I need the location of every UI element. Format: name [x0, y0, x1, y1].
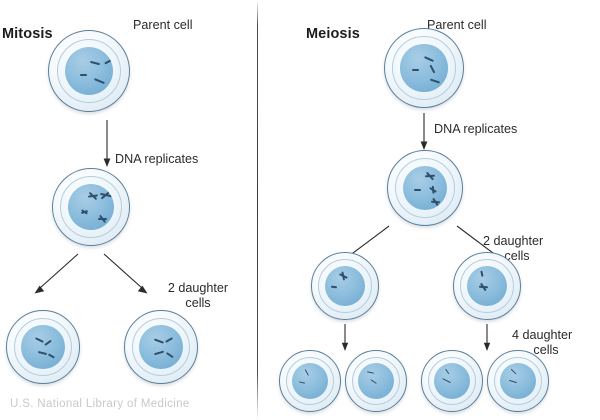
meiosis-arrow-replicate — [418, 113, 434, 151]
chromosome — [167, 352, 174, 358]
chromosome — [370, 379, 376, 384]
cell-nucleus — [467, 266, 507, 306]
mitosis-title: Mitosis — [2, 26, 53, 42]
chromosome — [430, 78, 440, 83]
mitosis-arrow-branch-left — [28, 252, 84, 298]
chromosome — [442, 378, 450, 383]
chromosome-duplicated — [340, 272, 347, 280]
meiosis-daughter4-cell-2 — [345, 350, 407, 412]
mitosis-arrow-branch-right — [100, 252, 156, 298]
meiosis-daughter4-cell-3 — [421, 350, 483, 412]
chromatid — [431, 200, 440, 203]
mitosis-parent-cell — [48, 30, 130, 112]
meiosis-arrow-down-left — [339, 324, 353, 352]
cell-nucleus — [139, 325, 183, 369]
meiosis-daughter4-label-line1: 4 daughter — [512, 328, 572, 343]
cell-nucleus — [68, 184, 114, 230]
chromosome — [104, 57, 113, 64]
chromosome — [90, 61, 100, 65]
chromosome-duplicated — [425, 174, 435, 179]
cell-nucleus — [400, 44, 447, 91]
chromatid — [479, 286, 488, 288]
mitosis-dna-replicates-label: DNA replicates — [115, 152, 198, 167]
cell-nucleus — [21, 325, 65, 369]
chromosome — [481, 271, 484, 277]
chromosome-duplicated — [431, 198, 440, 204]
chromosome — [45, 339, 52, 345]
mitosis-daughter-cell-right — [124, 310, 198, 384]
chromosome — [154, 351, 164, 355]
chromosome — [165, 337, 173, 343]
chromosome — [48, 354, 55, 359]
chromosome-duplicated — [98, 217, 107, 223]
mitosis-daughter-label-line2: cells — [155, 296, 241, 311]
source-credit: U.S. National Library of Medicine — [10, 398, 190, 410]
chromosome-duplicated — [88, 194, 98, 199]
chromosome — [298, 381, 304, 384]
mitosis-panel: Mitosis Parent cell DNA replicates 2 dau… — [0, 0, 257, 420]
meiosis-dna-replicates-label: DNA replicates — [434, 122, 517, 137]
mitosis-parent-cell-label: Parent cell — [133, 18, 193, 33]
chromosome — [367, 371, 375, 374]
chromosome — [304, 369, 309, 376]
chromosome — [331, 286, 337, 288]
chromosome — [430, 65, 436, 74]
meiosis-daughter4-cell-1 — [279, 350, 341, 412]
chromosome — [80, 74, 87, 76]
chromosome — [414, 189, 421, 191]
chromosome — [412, 69, 419, 71]
chromosome — [35, 337, 44, 342]
meiosis-panel: Meiosis Parent cell DNA replicates 2 dau… — [257, 0, 600, 420]
meiosis-title: Meiosis — [306, 26, 360, 42]
mitosis-replicated-cell — [52, 168, 130, 246]
chromosome — [510, 369, 516, 375]
meiosis-daughter2-cell-right — [453, 252, 521, 320]
chromosome — [154, 339, 164, 344]
meiosis-daughter4-cell-4 — [487, 350, 549, 412]
meiosis-daughter2-label-line1: 2 daughter — [483, 234, 543, 249]
mitosis-meiosis-diagram: Mitosis Parent cell DNA replicates 2 dau… — [0, 0, 600, 420]
chromosome-duplicated — [100, 193, 112, 198]
chromosome-duplicated — [480, 284, 488, 290]
chromosome — [509, 380, 517, 384]
chromosome-duplicated — [81, 211, 88, 214]
cell-nucleus — [65, 47, 113, 95]
cell-nucleus — [325, 266, 365, 306]
meiosis-parent-cell — [384, 28, 464, 108]
mitosis-daughter-label-line1: 2 daughter — [155, 281, 241, 296]
meiosis-daughter2-cell-left — [311, 252, 379, 320]
mitosis-daughter-cell-left — [6, 310, 80, 384]
chromosome — [37, 351, 46, 355]
meiosis-replicated-cell — [387, 150, 463, 226]
meiosis-arrow-down-right — [481, 324, 495, 352]
chromosome — [94, 78, 105, 84]
chromosome-duplicated — [430, 186, 436, 194]
chromosome — [445, 368, 450, 374]
chromosome — [424, 56, 434, 62]
